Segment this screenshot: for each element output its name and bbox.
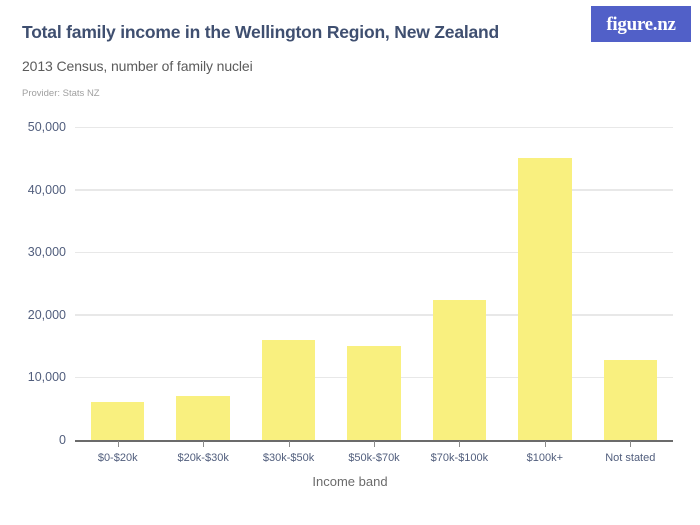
gridline <box>75 252 673 254</box>
bar[interactable] <box>262 340 315 440</box>
x-axis-tick <box>459 441 460 447</box>
y-axis-tick-label: 10,000 <box>0 370 66 384</box>
bar[interactable] <box>433 300 486 440</box>
x-axis-tick <box>630 441 631 447</box>
gridline <box>75 127 673 129</box>
x-axis-tick <box>545 441 546 447</box>
x-axis-tick <box>289 441 290 447</box>
x-axis-tick-label: $50k-$70k <box>348 452 399 464</box>
bar-chart-plot: 010,00020,00030,00040,00050,000 $0-$20k$… <box>0 0 700 525</box>
bar[interactable] <box>176 396 229 440</box>
gridline <box>75 314 673 316</box>
x-axis-tick-label: $0-$20k <box>98 452 138 464</box>
y-axis-tick-label: 40,000 <box>0 183 66 197</box>
y-axis-tick-label: 20,000 <box>0 308 66 322</box>
bar[interactable] <box>347 346 400 440</box>
gridline <box>75 189 673 191</box>
bar[interactable] <box>91 402 144 440</box>
x-axis-tick <box>118 441 119 447</box>
x-axis-tick-label: $20k-$30k <box>177 452 228 464</box>
y-axis-tick-label: 30,000 <box>0 245 66 259</box>
chart-page: Total family income in the Wellington Re… <box>0 0 700 525</box>
x-axis-tick-label: $30k-$50k <box>263 452 314 464</box>
x-axis-title: Income band <box>0 474 700 489</box>
x-axis-tick <box>374 441 375 447</box>
y-axis-tick-label: 0 <box>0 433 66 447</box>
x-axis-tick-label: Not stated <box>605 452 655 464</box>
bar[interactable] <box>518 158 571 440</box>
x-axis-tick-label: $100k+ <box>527 452 563 464</box>
bar[interactable] <box>604 360 657 440</box>
y-axis-tick-label: 50,000 <box>0 120 66 134</box>
x-axis-tick-label: $70k-$100k <box>431 452 489 464</box>
x-axis-tick <box>203 441 204 447</box>
